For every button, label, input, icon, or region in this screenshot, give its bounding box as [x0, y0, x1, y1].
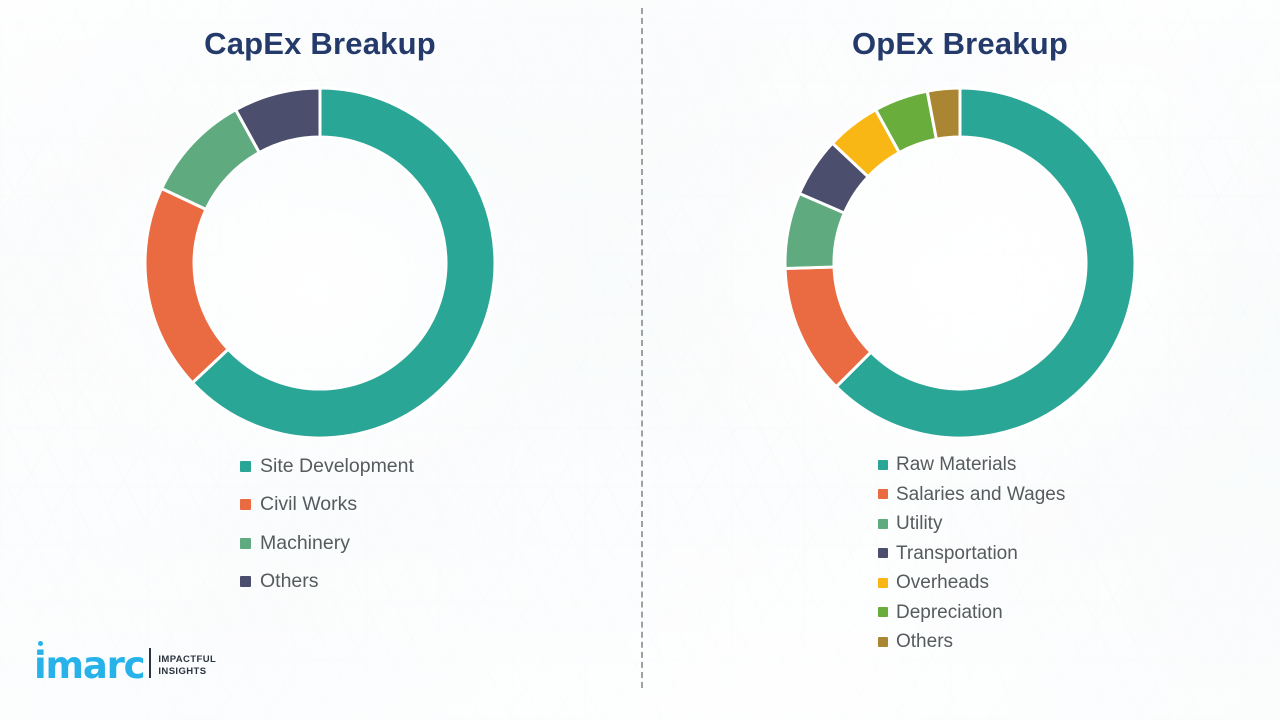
opex-donut-chart	[780, 87, 1140, 439]
legend-item-raw-materials[interactable]: Raw Materials	[878, 450, 1280, 480]
legend-swatch-icon	[878, 607, 888, 617]
legend-swatch-icon	[878, 548, 888, 558]
legend-item-others[interactable]: Others	[878, 627, 1280, 657]
logo-wordmark: imarc	[34, 650, 144, 681]
logo-tagline: IMPACTFUL INSIGHTS	[158, 654, 216, 681]
legend-item-salaries-and-wages[interactable]: Salaries and Wages	[878, 480, 1280, 510]
legend-item-label: Others	[260, 572, 319, 592]
logo-word-text: imarc	[34, 644, 144, 687]
logo-tagline-line1: IMPACTFUL	[158, 654, 216, 666]
legend-item-label: Transportation	[896, 544, 1018, 563]
legend-item-label: Raw Materials	[896, 455, 1016, 474]
opex-donut-wrap	[640, 87, 1280, 439]
donut-slice	[145, 188, 228, 382]
capex-donut-wrap	[0, 87, 640, 439]
imarc-logo: imarc IMPACTFUL INSIGHTS	[34, 648, 216, 681]
legend-item-label: Utility	[896, 514, 942, 533]
capex-title: CapEx Breakup	[0, 26, 640, 62]
logo-dot-icon	[38, 641, 43, 646]
legend-swatch-icon	[240, 538, 251, 549]
legend-item-label: Site Development	[260, 457, 414, 477]
legend-item-overheads[interactable]: Overheads	[878, 568, 1280, 598]
legend-item-label: Overheads	[896, 573, 989, 592]
legend-swatch-icon	[878, 460, 888, 470]
legend-item-utility[interactable]: Utility	[878, 509, 1280, 539]
legend-swatch-icon	[240, 499, 251, 510]
logo-divider-bar	[149, 648, 151, 678]
legend-item-label: Others	[896, 632, 953, 651]
legend-swatch-icon	[240, 461, 251, 472]
logo-tagline-line2: INSIGHTS	[158, 666, 216, 678]
legend-swatch-icon	[878, 578, 888, 588]
capex-donut-chart	[140, 87, 500, 439]
legend-swatch-icon	[878, 519, 888, 529]
legend-item-transportation[interactable]: Transportation	[878, 539, 1280, 569]
legend-swatch-icon	[240, 576, 251, 587]
legend-item-label: Machinery	[260, 534, 350, 554]
legend-item-label: Salaries and Wages	[896, 485, 1065, 504]
opex-title: OpEx Breakup	[640, 26, 1280, 62]
legend-swatch-icon	[878, 637, 888, 647]
legend-item-label: Depreciation	[896, 603, 1003, 622]
opex-legend: Raw MaterialsSalaries and WagesUtilityTr…	[640, 450, 1280, 657]
legend-item-depreciation[interactable]: Depreciation	[878, 598, 1280, 628]
opex-panel: OpEx Breakup Raw MaterialsSalaries and W…	[640, 0, 1280, 720]
capex-panel: CapEx Breakup Site DevelopmentCivil Work…	[0, 0, 640, 720]
legend-item-label: Civil Works	[260, 495, 357, 515]
legend-swatch-icon	[878, 489, 888, 499]
